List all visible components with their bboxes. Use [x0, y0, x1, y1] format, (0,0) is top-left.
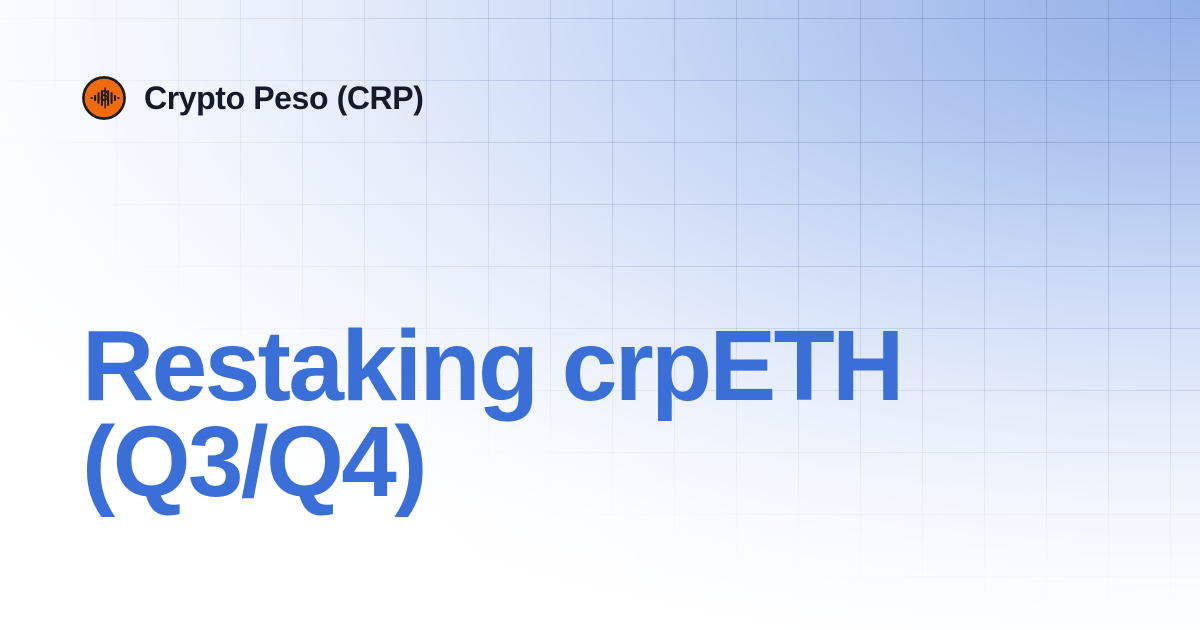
card-content: Crypto Peso (CRP) Restaking crpETH (Q3/Q… [0, 0, 1200, 630]
brand-name: Crypto Peso (CRP) [144, 82, 423, 114]
og-share-card: Crypto Peso (CRP) Restaking crpETH (Q3/Q… [0, 0, 1200, 630]
crypto-peso-waveform-coin-icon [82, 76, 126, 120]
page-title: Restaking crpETH (Q3/Q4) [82, 318, 1102, 510]
brand-row: Crypto Peso (CRP) [82, 74, 1120, 122]
headline-block: Restaking crpETH (Q3/Q4) [82, 318, 1120, 510]
